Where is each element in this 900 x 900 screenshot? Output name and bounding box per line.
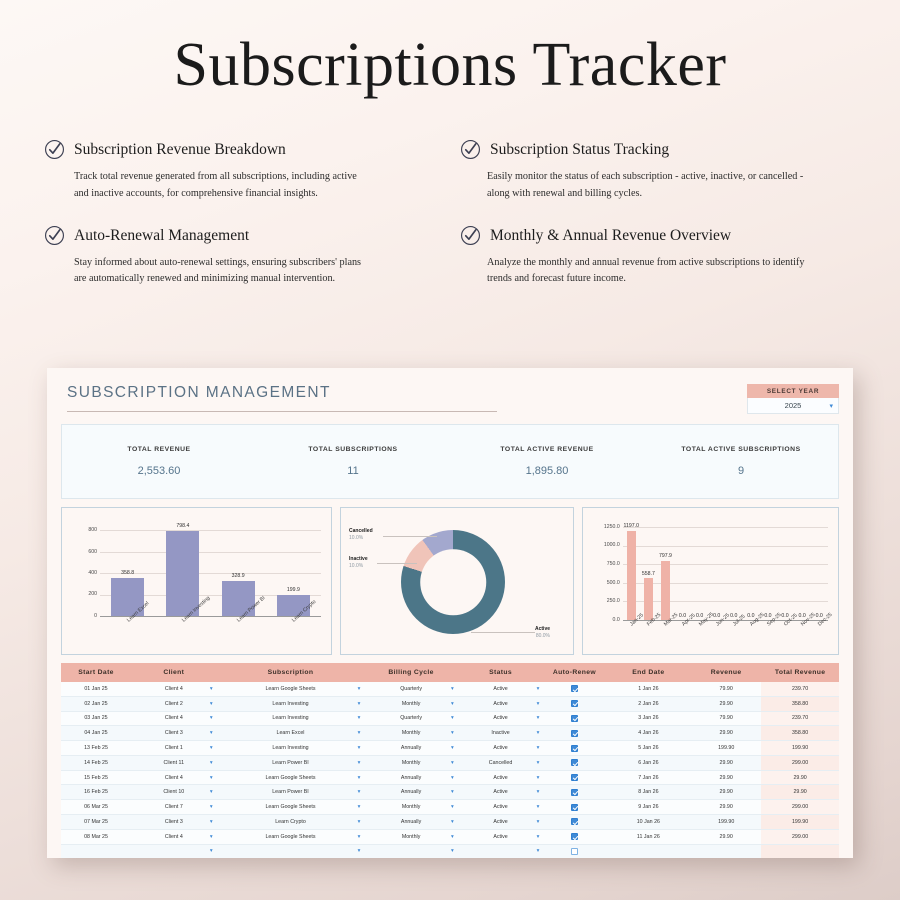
chevron-down-icon[interactable]: ▾ [451,745,454,751]
kpi-label: TOTAL ACTIVE SUBSCRIPTIONS [681,446,800,453]
cell-status[interactable]: Active▾ [458,682,544,696]
chevron-down-icon[interactable]: ▾ [358,760,361,766]
feature-item-auto-renewal: Auto-Renewal Management Stay informed ab… [44,225,440,289]
bar-value-label: 0.0 [797,613,841,619]
auto-renew-checkbox[interactable] [571,848,578,855]
bar-value-label: 1197.0 [609,523,653,529]
cell-client[interactable]: Client 1▾ [131,741,217,756]
cell-subscription[interactable]: Learn Google Sheets▾ [217,800,365,815]
cell-start-date: 06 Mar 25 [61,800,131,815]
table-row: 13 Feb 25Client 1▾Learn Investing▾Annual… [61,741,839,756]
chart-revenue-by-subscription: 0200400600800358.8Learn Excel798.4Learn … [61,507,332,655]
table-column-header: End Date [606,663,692,682]
cell-billing-cycle[interactable]: Quarterly▾ [364,711,457,726]
chevron-down-icon[interactable]: ▾ [358,819,361,825]
y-axis-tick: 750.0 [594,561,620,567]
chevron-down-icon[interactable]: ▾ [210,834,213,840]
cell-revenue: 29.90 [691,770,761,785]
auto-renew-checkbox[interactable] [571,759,578,766]
cell-revenue: 29.90 [691,829,761,844]
cell-start-date [61,844,131,858]
cell-status[interactable]: Active▾ [458,800,544,815]
cell-billing-cycle[interactable]: Monthly▾ [364,800,457,815]
chevron-down-icon[interactable]: ▾ [537,775,540,781]
cell-start-date: 07 Mar 25 [61,815,131,830]
y-axis-tick: 400 [71,570,97,576]
donut-callout: Cancelled10.0% [349,528,373,542]
cell-revenue: 79.90 [691,682,761,696]
cell-billing-cycle[interactable]: Monthly▾ [364,696,457,711]
cell-status[interactable]: Active▾ [458,815,544,830]
cell-client[interactable]: Client 4▾ [131,711,217,726]
cell-auto-renew[interactable] [543,800,605,815]
table-row: 06 Mar 25Client 7▾Learn Google Sheets▾Mo… [61,800,839,815]
donut-callout: Inactive10.0% [349,556,368,570]
feature-heading: Subscription Status Tracking [460,139,856,160]
bar-value-label: 798.4 [161,523,205,529]
chart-row: 0200400600800358.8Learn Excel798.4Learn … [61,507,839,655]
auto-renew-checkbox[interactable] [571,833,578,840]
chevron-down-icon[interactable]: ▾ [210,819,213,825]
table-column-header: Status [458,663,544,682]
cell-end-date [606,844,692,858]
feature-description: Easily monitor the status of each subscr… [460,160,810,203]
table-row: 01 Jan 25Client 4▾Learn Google Sheets▾Qu… [61,682,839,696]
gridline [623,564,828,565]
chevron-down-icon[interactable]: ▾ [210,804,213,810]
chevron-down-icon[interactable]: ▾ [451,715,454,721]
subscriptions-table-wrap: Start DateClientSubscriptionBilling Cycl… [61,663,839,858]
table-column-header: Billing Cycle [364,663,457,682]
chevron-down-icon[interactable]: ▾ [210,745,213,751]
table-header-row: Start DateClientSubscriptionBilling Cycl… [61,663,839,682]
y-axis-tick: 250.0 [594,598,620,604]
feature-description: Analyze the monthly and annual revenue f… [460,246,810,289]
donut-callout-percent: 10.0% [349,563,368,570]
kpi-total-revenue: TOTAL REVENUE 2,553.60 [62,425,256,498]
bar [661,561,670,620]
cell-billing-cycle[interactable]: Annually▾ [364,815,457,830]
cell-auto-renew[interactable] [543,741,605,756]
cell-revenue: 79.90 [691,711,761,726]
chevron-down-icon[interactable]: ▾ [358,686,361,692]
chart-status-donut: Cancelled10.0%Inactive10.0%Active80.0% [340,507,574,655]
kpi-strip: TOTAL REVENUE 2,553.60 TOTAL SUBSCRIPTIO… [61,424,839,499]
y-axis-tick: 1000.0 [594,542,620,548]
table-row: 14 Feb 25Client 11▾Learn Power BI▾Monthl… [61,755,839,770]
chevron-down-icon[interactable]: ▾ [210,760,213,766]
cell-total-revenue: 358.80 [761,726,839,741]
table-row: 15 Feb 25Client 4▾Learn Google Sheets▾An… [61,770,839,785]
cell-billing-cycle[interactable]: Annually▾ [364,770,457,785]
table-row: 08 Mar 25Client 4▾Learn Google Sheets▾Mo… [61,829,839,844]
cell-revenue: 29.90 [691,785,761,800]
cell-auto-renew[interactable] [543,785,605,800]
chevron-down-icon[interactable]: ▾ [537,715,540,721]
auto-renew-checkbox[interactable] [571,685,578,692]
auto-renew-checkbox[interactable] [571,700,578,707]
chevron-down-icon[interactable]: ▾ [537,804,540,810]
chevron-down-icon[interactable]: ▾ [451,789,454,795]
kpi-total-active-revenue: TOTAL ACTIVE REVENUE 1,895.80 [450,425,644,498]
chevron-down-icon[interactable]: ▾ [210,789,213,795]
cell-revenue: 199.90 [691,741,761,756]
cell-billing-cycle[interactable]: Monthly▾ [364,755,457,770]
chevron-down-icon[interactable]: ▾ [451,848,454,854]
chevron-down-icon[interactable]: ▾ [358,804,361,810]
donut-leader-line [471,632,535,633]
auto-renew-checkbox[interactable] [571,745,578,752]
chevron-down-icon[interactable]: ▾ [829,402,833,410]
page-title: SUBSCRIPTION MANAGEMENT [61,384,497,402]
feature-heading: Auto-Renewal Management [44,225,440,246]
kpi-label: TOTAL SUBSCRIPTIONS [308,446,397,453]
circled-check-icon [460,139,481,160]
cell-status[interactable]: Active▾ [458,711,544,726]
cell-start-date: 04 Jan 25 [61,726,131,741]
chevron-down-icon[interactable]: ▾ [358,848,361,854]
cell-start-date: 01 Jan 25 [61,682,131,696]
cell-start-date: 02 Jan 25 [61,696,131,711]
cell-auto-renew[interactable] [543,829,605,844]
table-column-header: Subscription [217,663,365,682]
cell-start-date: 08 Mar 25 [61,829,131,844]
chevron-down-icon[interactable]: ▾ [537,760,540,766]
chevron-down-icon[interactable]: ▾ [358,834,361,840]
cell-client[interactable]: Client 4▾ [131,770,217,785]
cell-end-date: 10 Jan 26 [606,815,692,830]
chevron-down-icon[interactable]: ▾ [358,775,361,781]
cell-revenue: 29.90 [691,726,761,741]
circled-check-icon [44,225,65,246]
cell-total-revenue: 29.90 [761,785,839,800]
cell-total-revenue: 299.00 [761,829,839,844]
table-column-header: Revenue [691,663,761,682]
auto-renew-checkbox[interactable] [571,730,578,737]
chevron-down-icon[interactable]: ▾ [210,775,213,781]
feature-heading: Monthly & Annual Revenue Overview [460,225,856,246]
cell-end-date: 8 Jan 26 [606,785,692,800]
chevron-down-icon[interactable]: ▾ [537,701,540,707]
chevron-down-icon[interactable]: ▾ [451,834,454,840]
auto-renew-checkbox[interactable] [571,715,578,722]
table-column-header: Total Revenue [761,663,839,682]
cell-end-date: 9 Jan 26 [606,800,692,815]
dashboard-panel: SUBSCRIPTION MANAGEMENT SELECT YEAR 2025… [47,368,853,858]
cell-subscription[interactable]: Learn Excel▾ [217,726,365,741]
cell-client[interactable]: Client 3▾ [131,815,217,830]
cell-auto-renew[interactable] [543,770,605,785]
feature-title: Subscription Status Tracking [490,141,669,158]
gridline [623,527,828,528]
year-selector-text: 2025 [785,401,802,410]
cell-end-date: 1 Jan 26 [606,682,692,696]
kpi-label: TOTAL REVENUE [127,446,190,453]
bar-value-label: 358.8 [106,570,150,576]
auto-renew-checkbox[interactable] [571,789,578,796]
donut-callout-percent: 10.0% [349,535,373,542]
feature-title: Auto-Renewal Management [74,227,249,244]
cell-subscription[interactable]: Learn Investing▾ [217,711,365,726]
cell-status[interactable]: Active▾ [458,829,544,844]
cell-auto-renew[interactable] [543,711,605,726]
cell-billing-cycle[interactable]: Monthly▾ [364,829,457,844]
cell-total-revenue: 239.70 [761,682,839,696]
chevron-down-icon[interactable]: ▾ [451,760,454,766]
auto-renew-checkbox[interactable] [571,818,578,825]
kpi-label: TOTAL ACTIVE REVENUE [500,446,593,453]
dashboard-topbar: SUBSCRIPTION MANAGEMENT SELECT YEAR 2025… [61,384,839,414]
table-row: ▾▾▾▾ [61,844,839,858]
cell-client[interactable]: Client 2▾ [131,696,217,711]
auto-renew-checkbox[interactable] [571,804,578,811]
cell-auto-renew[interactable] [543,726,605,741]
cell-auto-renew[interactable] [543,755,605,770]
y-axis-tick: 0 [71,613,97,619]
cell-subscription[interactable]: Learn Investing▾ [217,696,365,711]
cell-status[interactable]: Active▾ [458,785,544,800]
y-axis-tick: 500.0 [594,580,620,586]
year-selector-label: SELECT YEAR [747,384,839,398]
cell-end-date: 2 Jan 26 [606,696,692,711]
cell-subscription[interactable]: Learn Google Sheets▾ [217,829,365,844]
gridline [623,583,828,584]
bar [166,531,199,616]
chevron-down-icon[interactable]: ▾ [537,834,540,840]
chevron-down-icon[interactable]: ▾ [451,730,454,736]
cell-status[interactable]: Cancelled▾ [458,755,544,770]
cell-status[interactable]: ▾ [458,844,544,858]
chevron-down-icon[interactable]: ▾ [537,745,540,751]
chevron-down-icon[interactable]: ▾ [210,848,213,854]
cell-billing-cycle[interactable]: Annually▾ [364,741,457,756]
cell-total-revenue: 299.00 [761,755,839,770]
cell-client[interactable]: Client 4▾ [131,829,217,844]
kpi-value: 2,553.60 [138,465,181,477]
cell-auto-renew[interactable] [543,696,605,711]
title-divider [67,411,497,412]
cell-client[interactable]: Client 7▾ [131,800,217,815]
feature-title: Monthly & Annual Revenue Overview [490,227,731,244]
circled-check-icon [44,139,65,160]
cell-total-revenue: 358.80 [761,696,839,711]
table-column-header: Auto-Renew [543,663,605,682]
cell-auto-renew[interactable] [543,844,605,858]
circled-check-icon [460,225,481,246]
cell-billing-cycle[interactable]: Annually▾ [364,785,457,800]
cell-subscription[interactable]: ▾ [217,844,365,858]
cell-subscription[interactable]: Learn Google Sheets▾ [217,682,365,696]
kpi-total-subscriptions: TOTAL SUBSCRIPTIONS 11 [256,425,450,498]
cell-total-revenue: 299.00 [761,800,839,815]
donut-leader-line [383,536,437,537]
table-row: 16 Feb 25Client 10▾Learn Power BI▾Annual… [61,785,839,800]
cell-subscription[interactable]: Learn Power BI▾ [217,785,365,800]
chevron-down-icon[interactable]: ▾ [210,701,213,707]
donut-leader-line [377,563,417,564]
gridline [100,530,321,531]
table-row: 07 Mar 25Client 3▾Learn Crypto▾Annually▾… [61,815,839,830]
kpi-value: 9 [738,465,744,477]
bar [644,578,653,620]
y-axis-tick: 200 [71,591,97,597]
chevron-down-icon[interactable]: ▾ [451,686,454,692]
cell-billing-cycle[interactable]: ▾ [364,844,457,858]
cell-status[interactable]: Active▾ [458,696,544,711]
cell-end-date: 6 Jan 26 [606,755,692,770]
cell-total-revenue: 239.70 [761,711,839,726]
cell-revenue: 29.90 [691,800,761,815]
chevron-down-icon[interactable]: ▾ [537,848,540,854]
chevron-down-icon[interactable]: ▾ [537,730,540,736]
table-row: 03 Jan 25Client 4▾Learn Investing▾Quarte… [61,711,839,726]
year-selector-value[interactable]: 2025 ▾ [747,398,839,414]
chevron-down-icon[interactable]: ▾ [210,715,213,721]
kpi-value: 11 [347,465,358,477]
chevron-down-icon[interactable]: ▾ [358,789,361,795]
cell-revenue [691,844,761,858]
feature-item-revenue-overview: Monthly & Annual Revenue Overview Analyz… [460,225,856,289]
cell-end-date: 7 Jan 26 [606,770,692,785]
donut-callout-percent: 80.0% [535,633,550,640]
chevron-down-icon[interactable]: ▾ [358,701,361,707]
chevron-down-icon[interactable]: ▾ [210,686,213,692]
donut-callout: Active80.0% [535,626,550,640]
kpi-value: 1,895.80 [526,465,569,477]
chevron-down-icon[interactable]: ▾ [451,701,454,707]
cell-end-date: 4 Jan 26 [606,726,692,741]
bar-value-label: 199.9 [271,587,315,593]
kpi-total-active-subscriptions: TOTAL ACTIVE SUBSCRIPTIONS 9 [644,425,838,498]
cell-subscription[interactable]: Learn Power BI▾ [217,755,365,770]
chevron-down-icon[interactable]: ▾ [537,819,540,825]
cell-start-date: 13 Feb 25 [61,741,131,756]
chevron-down-icon[interactable]: ▾ [358,715,361,721]
cell-client[interactable]: Client 10▾ [131,785,217,800]
chart-monthly-revenue: 0.0250.0500.0750.01000.01250.01197.0Jan-… [582,507,839,655]
gridline [100,552,321,553]
table-column-header: Start Date [61,663,131,682]
donut-callout-label: Active [535,626,550,633]
cell-client[interactable]: Client 4▾ [131,682,217,696]
donut-callout-label: Inactive [349,556,368,563]
chevron-down-icon[interactable]: ▾ [451,819,454,825]
table-column-header: Client [131,663,217,682]
chevron-down-icon[interactable]: ▾ [358,730,361,736]
cell-auto-renew[interactable] [543,815,605,830]
bar-value-label: 797.9 [643,553,687,559]
subscriptions-table: Start DateClientSubscriptionBilling Cycl… [61,663,839,858]
cell-status[interactable]: Inactive▾ [458,726,544,741]
auto-renew-checkbox[interactable] [571,774,578,781]
gridline [623,546,828,547]
donut-ring [401,530,505,634]
cell-total-revenue: 199.90 [761,815,839,830]
feature-description: Stay informed about auto-renewal setting… [44,246,374,289]
cell-end-date: 5 Jan 26 [606,741,692,756]
bar-value-label: 328.9 [216,573,260,579]
chevron-down-icon[interactable]: ▾ [451,804,454,810]
cell-client[interactable]: Client 11▾ [131,755,217,770]
cell-start-date: 15 Feb 25 [61,770,131,785]
cell-auto-renew[interactable] [543,682,605,696]
cell-revenue: 29.90 [691,696,761,711]
cell-total-revenue: 29.90 [761,770,839,785]
hero-title: Subscriptions Tracker [0,0,900,101]
donut-callout-label: Cancelled [349,528,373,535]
chevron-down-icon[interactable]: ▾ [358,745,361,751]
year-selector[interactable]: SELECT YEAR 2025 ▾ [747,384,839,414]
cell-status[interactable]: Active▾ [458,741,544,756]
donut-hole [420,549,486,615]
cell-start-date: 16 Feb 25 [61,785,131,800]
cell-total-revenue [761,844,839,858]
y-axis-tick: 600 [71,549,97,555]
feature-description: Track total revenue generated from all s… [44,160,374,203]
cell-subscription[interactable]: Learn Investing▾ [217,741,365,756]
chevron-down-icon[interactable]: ▾ [537,686,540,692]
y-axis-tick: 800 [71,527,97,533]
cell-status[interactable]: Active▾ [458,770,544,785]
cell-client[interactable]: ▾ [131,844,217,858]
table-row: 02 Jan 25Client 2▾Learn Investing▾Monthl… [61,696,839,711]
chevron-down-icon[interactable]: ▾ [210,730,213,736]
feature-item-status-tracking: Subscription Status Tracking Easily moni… [460,139,856,203]
table-body: 01 Jan 25Client 4▾Learn Google Sheets▾Qu… [61,682,839,858]
cell-revenue: 199.90 [691,815,761,830]
cell-total-revenue: 199.90 [761,741,839,756]
feature-heading: Subscription Revenue Breakdown [44,139,440,160]
y-axis-tick: 0.0 [594,617,620,623]
cell-subscription[interactable]: Learn Crypto▾ [217,815,365,830]
cell-billing-cycle[interactable]: Quarterly▾ [364,682,457,696]
cell-end-date: 11 Jan 26 [606,829,692,844]
chevron-down-icon[interactable]: ▾ [537,789,540,795]
cell-start-date: 03 Jan 25 [61,711,131,726]
gridline [623,601,828,602]
chevron-down-icon[interactable]: ▾ [451,775,454,781]
cell-billing-cycle[interactable]: Monthly▾ [364,726,457,741]
feature-title: Subscription Revenue Breakdown [74,141,286,158]
cell-start-date: 14 Feb 25 [61,755,131,770]
cell-client[interactable]: Client 3▾ [131,726,217,741]
cell-revenue: 29.90 [691,755,761,770]
feature-item-revenue-breakdown: Subscription Revenue Breakdown Track tot… [44,139,440,203]
table-row: 04 Jan 25Client 3▾Learn Excel▾Monthly▾In… [61,726,839,741]
feature-list: Subscription Revenue Breakdown Track tot… [0,101,900,288]
cell-end-date: 3 Jan 26 [606,711,692,726]
cell-subscription[interactable]: Learn Google Sheets▾ [217,770,365,785]
